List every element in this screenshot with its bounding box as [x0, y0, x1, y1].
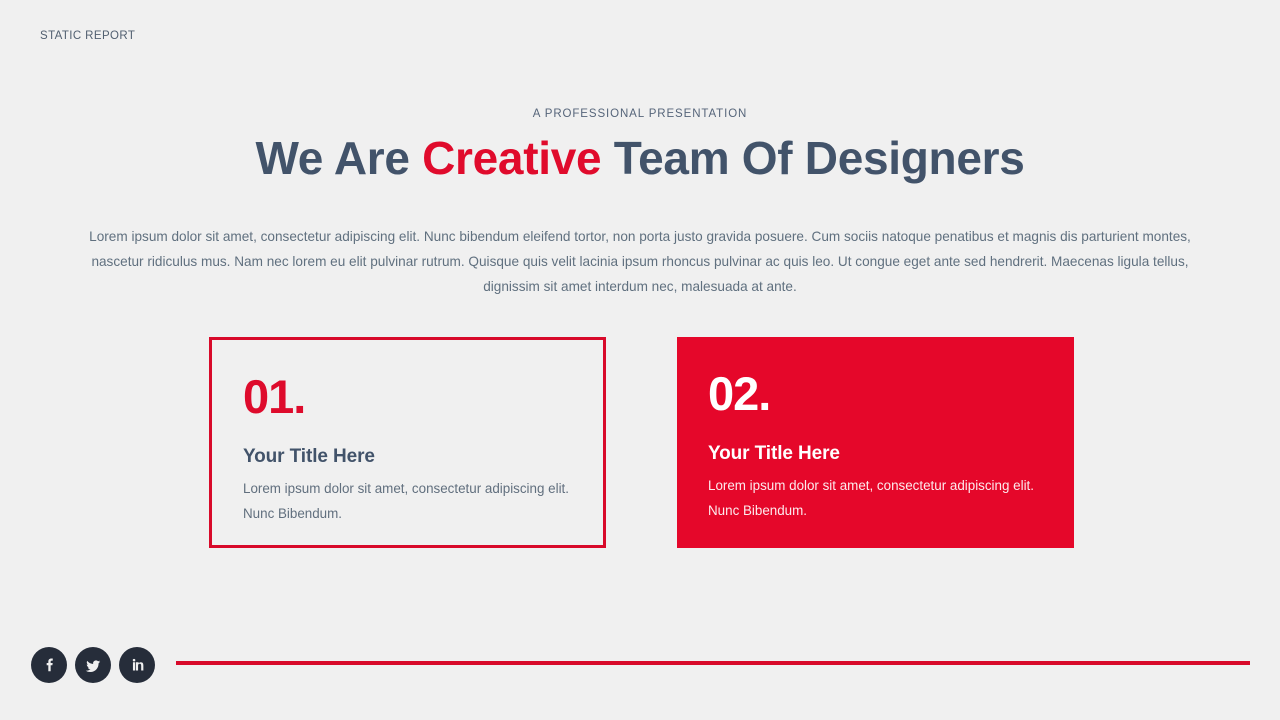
- feature-card-number: 02.: [708, 370, 1040, 417]
- feature-card-title: Your Title Here: [708, 443, 1040, 465]
- headline-text-leading: We Are: [255, 132, 422, 184]
- social-link-facebook[interactable]: [31, 647, 67, 683]
- presentation-slide: STATIC REPORT A PROFESSIONAL PRESENTATIO…: [0, 0, 1280, 720]
- footer-divider-rule: [176, 661, 1250, 665]
- social-link-linkedin[interactable]: [119, 647, 155, 683]
- feature-card-description: Lorem ipsum dolor sit amet, consectetur …: [243, 476, 569, 526]
- facebook-icon: [40, 656, 58, 674]
- social-link-twitter[interactable]: [75, 647, 111, 683]
- feature-card-number: 01.: [243, 373, 569, 420]
- feature-card-description: Lorem ipsum dolor sit amet, consectetur …: [708, 473, 1040, 523]
- slide-kicker-label: STATIC REPORT: [40, 30, 135, 42]
- slide-footer: [0, 640, 1280, 720]
- headline-accent-word: Creative: [422, 132, 601, 184]
- page-title: We Are Creative Team Of Designers: [0, 134, 1280, 184]
- slide-header: A PROFESSIONAL PRESENTATION We Are Creat…: [0, 108, 1280, 184]
- social-links: [31, 647, 155, 683]
- headline-text-trailing: Team Of Designers: [601, 132, 1024, 184]
- slide-eyebrow: A PROFESSIONAL PRESENTATION: [0, 108, 1280, 120]
- feature-card-02[interactable]: 02. Your Title Here Lorem ipsum dolor si…: [677, 337, 1074, 548]
- feature-card-01[interactable]: 01. Your Title Here Lorem ipsum dolor si…: [209, 337, 606, 548]
- feature-card-title: Your Title Here: [243, 446, 569, 468]
- linkedin-icon: [128, 656, 146, 674]
- lead-paragraph: Lorem ipsum dolor sit amet, consectetur …: [85, 224, 1195, 299]
- twitter-icon: [84, 656, 103, 675]
